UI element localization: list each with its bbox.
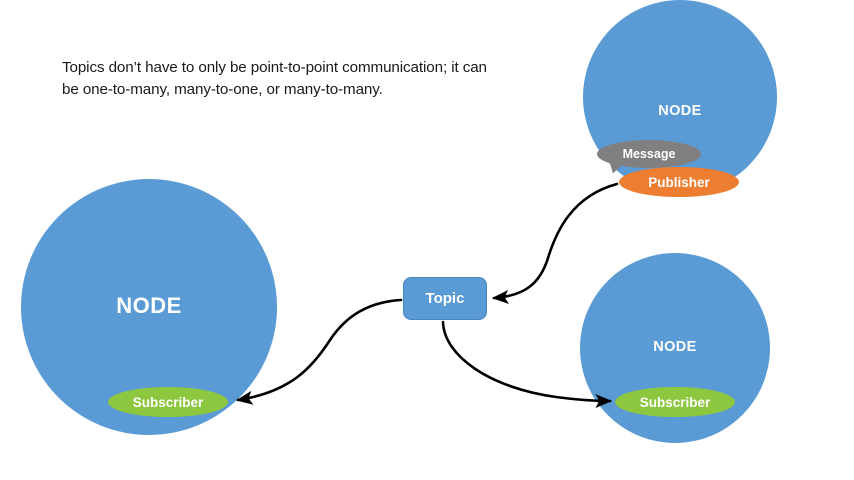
message-callout: Message: [597, 140, 701, 168]
slide-canvas: Topics don’t have to only be point-to-po…: [0, 0, 854, 480]
message-label: Message: [623, 147, 676, 161]
arrow-publisher-to-topic: [494, 184, 617, 298]
node-label-top-right: NODE: [583, 103, 777, 119]
node-label-left: NODE: [21, 293, 277, 319]
publisher-label: Publisher: [648, 175, 710, 190]
subscriber-label-bottom-right: Subscriber: [640, 395, 711, 410]
caption-text: Topics don’t have to only be point-to-po…: [62, 57, 492, 101]
publisher-ellipse-top-right: Publisher: [619, 167, 739, 197]
message-callout-bubble: Message: [597, 140, 701, 168]
topic-label: Topic: [426, 290, 465, 307]
subscriber-label-left: Subscriber: [133, 395, 204, 410]
node-label-bottom-right: NODE: [580, 339, 770, 355]
subscriber-ellipse-left: Subscriber: [108, 387, 228, 417]
topic-box: Topic: [403, 277, 487, 320]
subscriber-ellipse-bottom-right: Subscriber: [615, 387, 735, 417]
